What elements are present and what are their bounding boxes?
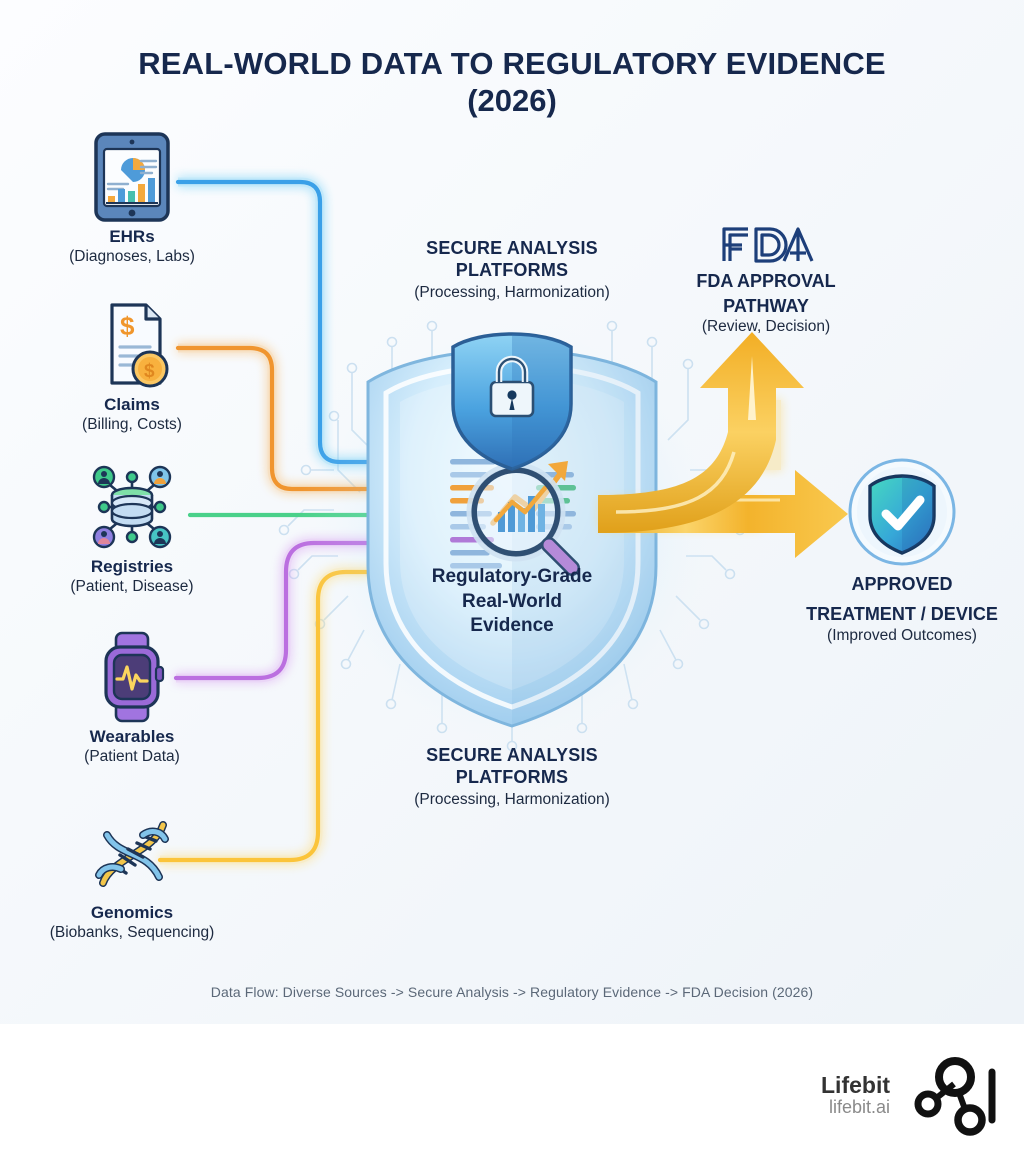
source-node-wearables[interactable]: Wearables (Patient Data) (22, 632, 242, 766)
brand-name: Lifebit (821, 1073, 890, 1097)
fda-head-line-2: PATHWAY (616, 296, 916, 318)
source-label-genomics: Genomics (22, 903, 242, 923)
shield-text-line-3: Evidence (382, 614, 642, 639)
source-label-ehrs: EHRs (22, 227, 242, 247)
source-node-claims[interactable]: $ $ Claims (Billing, Costs) (22, 300, 242, 434)
svg-text:$: $ (144, 361, 155, 382)
source-node-genomics[interactable]: Genomics (Biobanks, Sequencing) (22, 808, 242, 942)
title-line-2: (2026) (0, 82, 1024, 120)
check-shield-icon (752, 458, 1024, 566)
data-flow-caption: Data Flow: Diverse Sources -> Secure Ana… (0, 984, 1024, 1000)
fda-approval-block[interactable]: FDA APPROVAL PATHWAY (Review, Decision) (616, 222, 916, 336)
approved-treatment-block[interactable]: APPROVED TREATMENT / DEVICE (Improved Ou… (752, 458, 1024, 645)
shield-text-line-1: Regulatory-Grade (382, 565, 642, 590)
approved-head-line-2: TREATMENT / DEVICE (752, 604, 1024, 626)
invoice-dollar-icon: $ $ (22, 300, 242, 390)
source-sublabel-wearables: (Patient Data) (22, 748, 242, 767)
svg-text:$: $ (120, 311, 135, 341)
lifebit-branding[interactable]: Lifebit lifebit.ai (821, 1050, 998, 1141)
magnifier-chart-icon (450, 459, 576, 569)
source-sublabel-genomics: (Biobanks, Sequencing) (22, 924, 242, 943)
circuit-pattern (280, 322, 745, 751)
shield-evidence-text: Regulatory-Grade Real-World Evidence (382, 565, 642, 639)
brand-url: lifebit.ai (821, 1097, 890, 1118)
source-sublabel-registries: (Patient, Disease) (22, 578, 242, 597)
source-node-ehrs[interactable]: EHRs (Diagnoses, Labs) (22, 132, 242, 266)
fda-head-line-1: FDA APPROVAL (616, 271, 916, 293)
fda-logo-icon (616, 222, 916, 268)
fda-sublabel: (Review, Decision) (616, 318, 916, 336)
footer-bar: Lifebit lifebit.ai (0, 1024, 1024, 1154)
source-sublabel-ehrs: (Diagnoses, Labs) (22, 248, 242, 267)
secure-bottom-head-2: PLATFORMS (342, 767, 682, 789)
tablet-chart-icon (22, 132, 242, 222)
lifebit-node-logo-icon (906, 1050, 998, 1141)
page-title: REAL-WORLD DATA TO REGULATORY EVIDENCE (… (0, 46, 1024, 120)
infographic-root: REAL-WORLD DATA TO REGULATORY EVIDENCE (… (0, 0, 1024, 1154)
smartwatch-ecg-icon (22, 632, 242, 722)
database-people-icon (22, 462, 242, 552)
infographic-panel: REAL-WORLD DATA TO REGULATORY EVIDENCE (… (0, 0, 1024, 1024)
shield-text-line-2: Real-World (382, 590, 642, 615)
approved-head-line-1: APPROVED (752, 574, 1024, 596)
secure-bottom-sub: (Processing, Harmonization) (342, 791, 682, 809)
dna-helix-icon (22, 808, 242, 898)
source-node-registries[interactable]: Registries (Patient, Disease) (22, 462, 242, 596)
secure-analysis-bottom-label: SECURE ANALYSIS PLATFORMS (Processing, H… (342, 745, 682, 809)
title-line-1: REAL-WORLD DATA TO REGULATORY EVIDENCE (0, 46, 1024, 82)
brand-text-group: Lifebit lifebit.ai (821, 1073, 890, 1118)
secure-bottom-head-1: SECURE ANALYSIS (342, 745, 682, 767)
source-label-registries: Registries (22, 557, 242, 577)
source-label-claims: Claims (22, 395, 242, 415)
source-label-wearables: Wearables (22, 727, 242, 747)
source-sublabel-claims: (Billing, Costs) (22, 416, 242, 435)
approved-sublabel: (Improved Outcomes) (752, 627, 1024, 645)
